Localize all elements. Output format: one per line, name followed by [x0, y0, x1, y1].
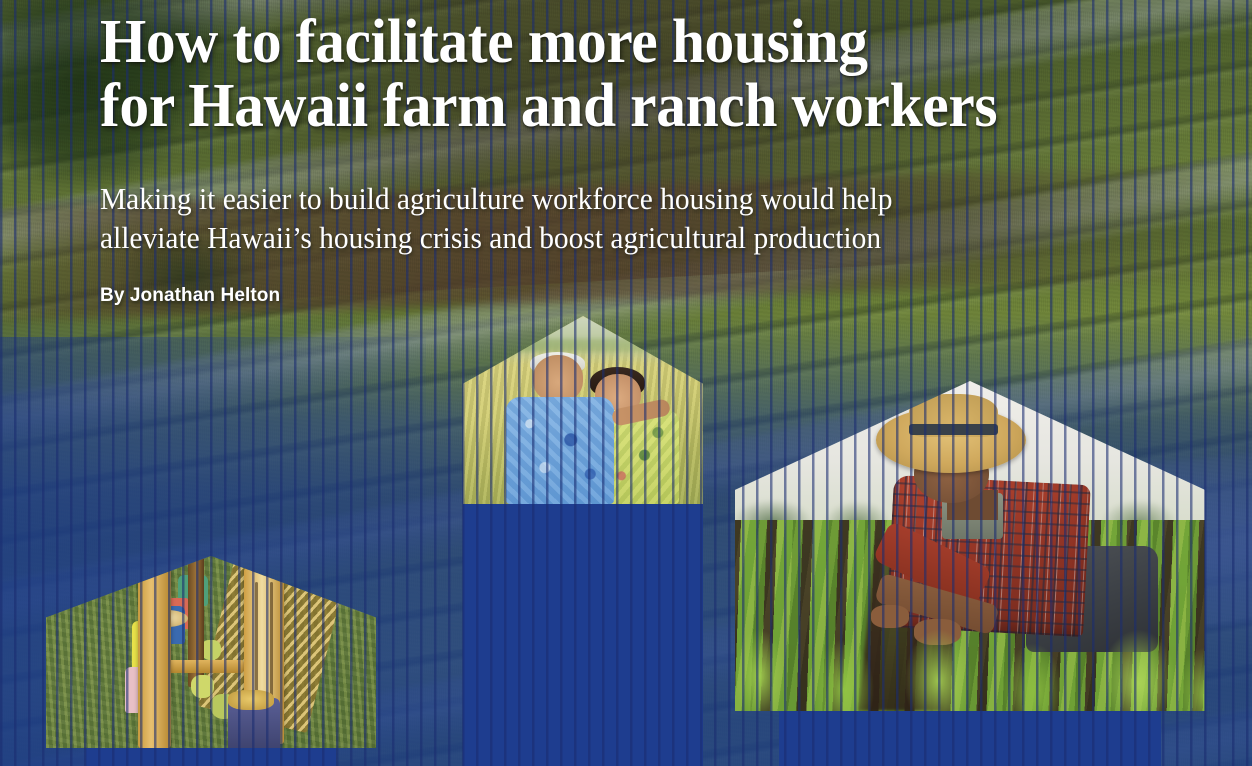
- house-cutout-pineapple-harvest: [46, 556, 376, 748]
- house-cutout-lettuce-worker: [735, 381, 1205, 711]
- hat-band: [909, 424, 998, 435]
- pineapple-fruit-icon: [191, 675, 214, 698]
- man-aloha-shirt: [506, 397, 614, 504]
- article-hero-banner: How to facilitate more housing for Hawai…: [0, 0, 1252, 766]
- house-pedestal-center: [463, 500, 703, 766]
- harvester-frame-left: [138, 556, 171, 748]
- house-photo-mask-right: [735, 381, 1205, 711]
- straw-hat-icon: [228, 690, 274, 709]
- page-title: How to facilitate more housing for Hawai…: [100, 0, 1118, 139]
- house-photo-mask-center: [463, 316, 703, 504]
- pineapple-harvest-scene: [46, 556, 376, 748]
- lettuce-foreground-heads: [735, 609, 1205, 711]
- man-face: [533, 355, 583, 402]
- hero-text-block: How to facilitate more housing for Hawai…: [100, 0, 1160, 307]
- house-photo-mask-left: [46, 556, 376, 748]
- house-cutout-elderly-couple: [463, 316, 703, 504]
- field-hedge-strip: [463, 339, 703, 352]
- pineapple-fruit-icon: [201, 640, 221, 659]
- elderly-couple-scene: [463, 316, 703, 504]
- lettuce-farm-scene: [735, 381, 1205, 711]
- article-byline: By Jonathan Helton: [100, 285, 1160, 307]
- article-subtitle: Making it easier to build agriculture wo…: [100, 179, 1107, 257]
